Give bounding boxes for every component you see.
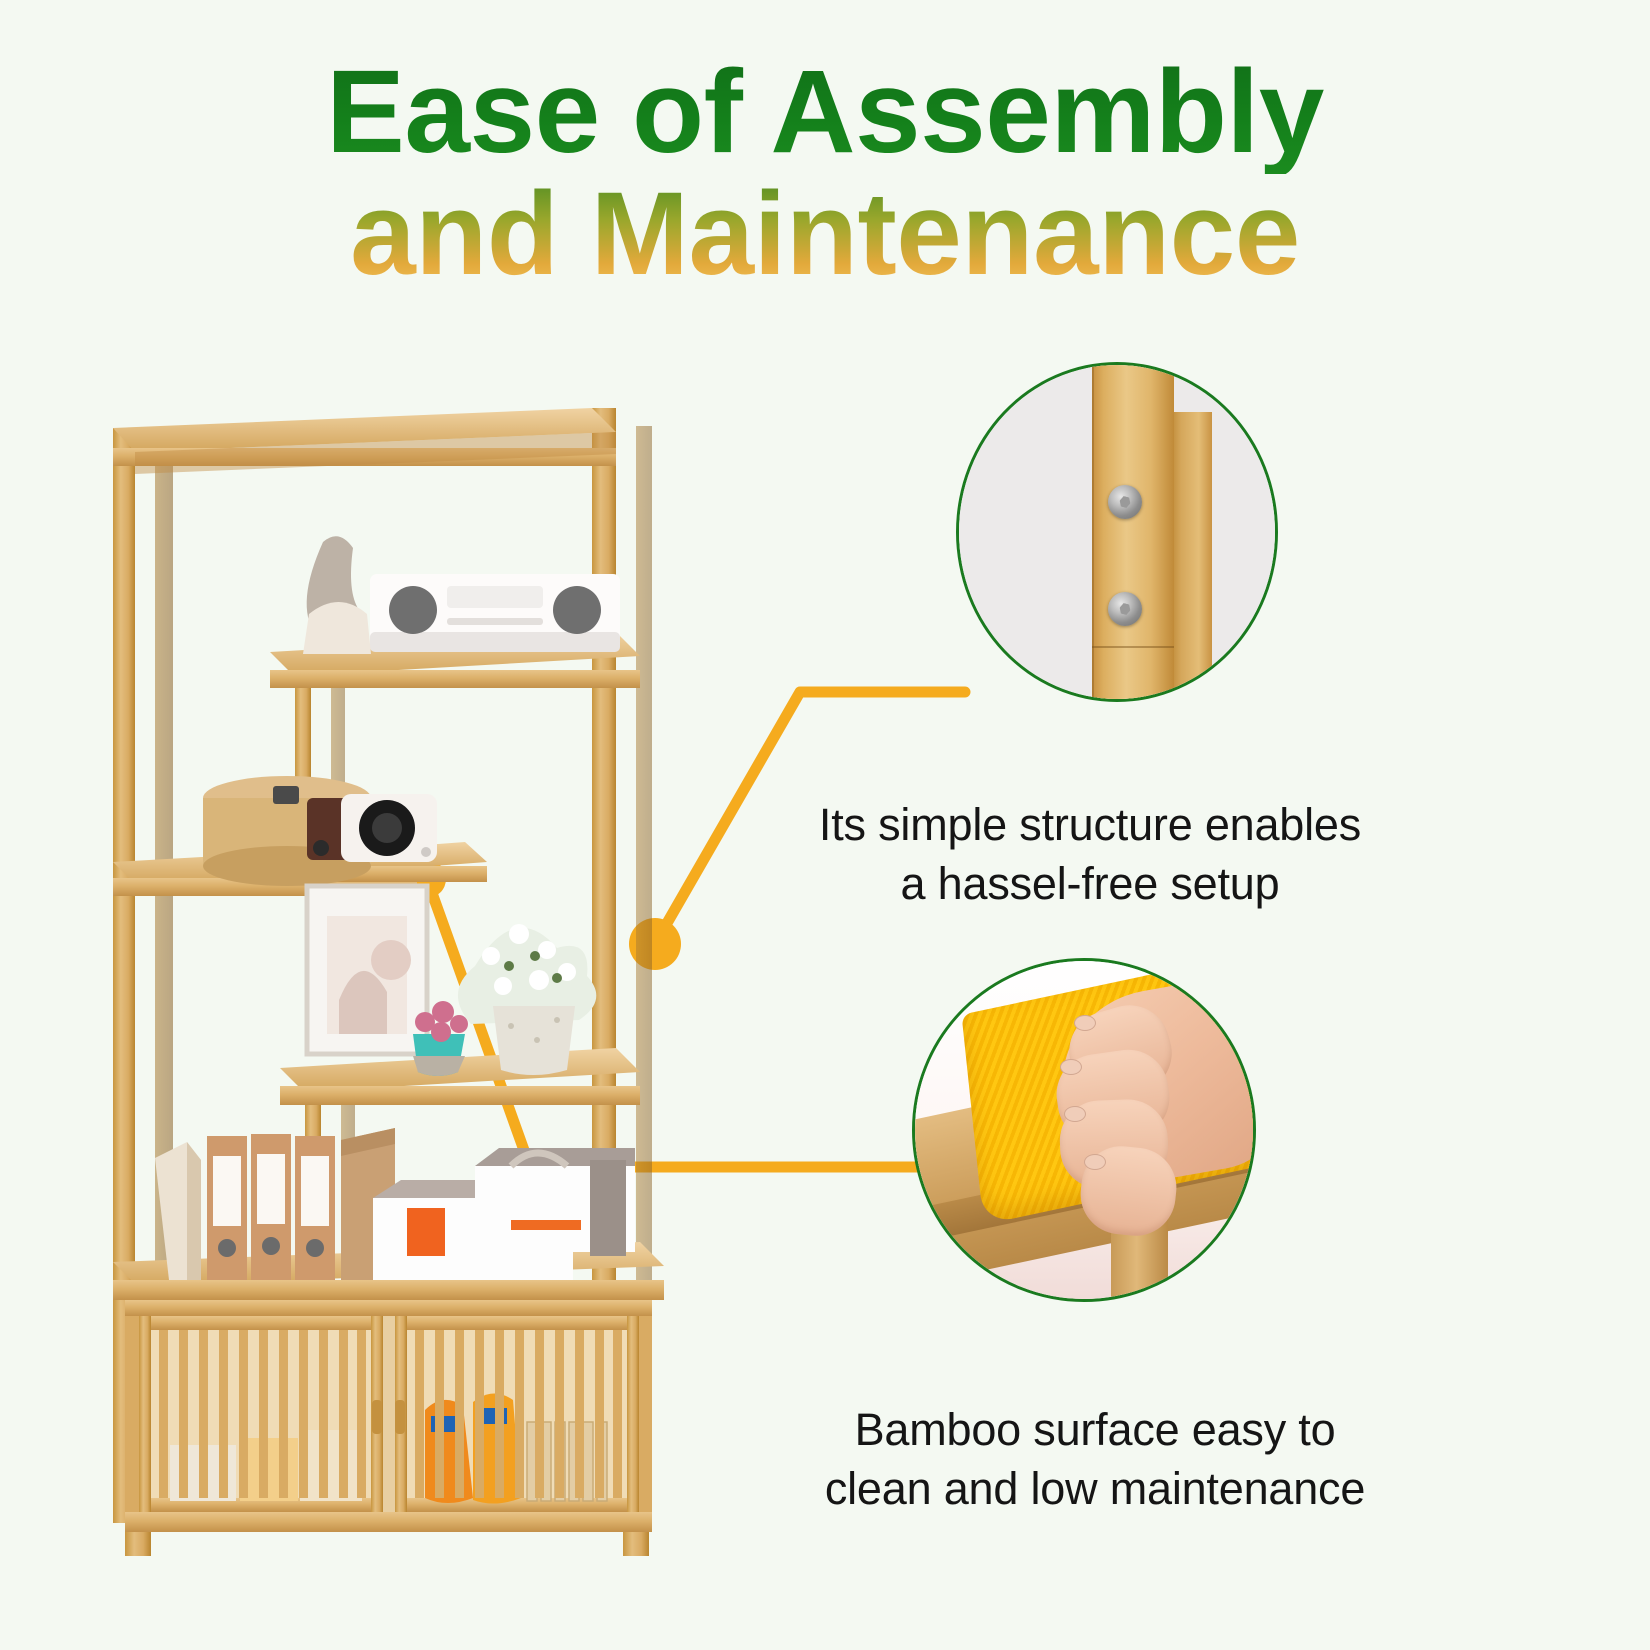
joint-horizontal-seam [1092,646,1174,648]
page-title: Ease of Assembly and Maintenance [0,52,1650,295]
detail-photo-cleaning-surface [912,958,1256,1302]
joint-seam-line [1092,362,1094,702]
callout-text-assembly: Its simple structure enables a hassel-fr… [735,795,1445,914]
screw-icon-upper [1108,485,1142,519]
detail-photo-assembly-joint [956,362,1278,702]
callout-assembly-line-2: a hassel-free setup [735,854,1445,913]
callout-maintenance-line-1: Bamboo surface easy to [745,1400,1445,1459]
infographic-canvas: Ease of Assembly and Maintenance [0,0,1650,1650]
joint-secondary-post [1168,412,1212,702]
title-line-1: Ease of Assembly [0,52,1650,174]
callout-assembly-line-1: Its simple structure enables [735,795,1445,854]
nail-index [1074,1015,1096,1031]
joint-main-post [1092,362,1174,702]
title-line-2: and Maintenance [0,174,1650,296]
callout-text-maintenance: Bamboo surface easy to clean and low mai… [745,1400,1445,1519]
callout-maintenance-line-2: clean and low maintenance [745,1459,1445,1518]
product-image-bamboo-shelf [95,400,695,1560]
nail-pinky [1084,1154,1106,1170]
screw-icon-lower [1108,592,1142,626]
